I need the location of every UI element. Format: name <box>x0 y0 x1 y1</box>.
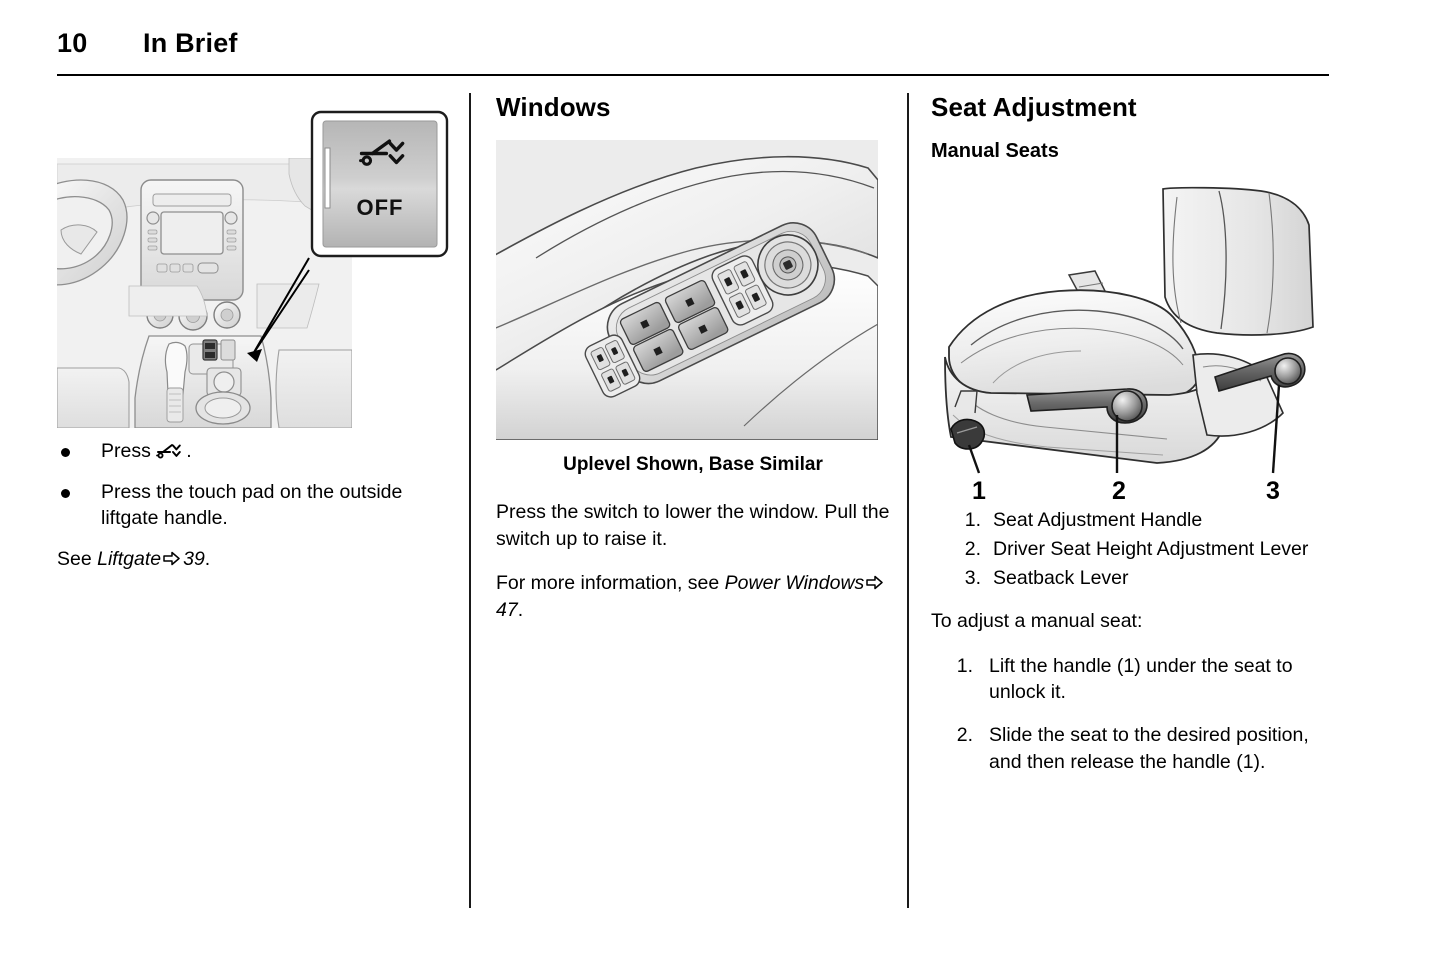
list-item: 1.Seat Adjustment Handle <box>931 507 1329 534</box>
legend-label: Driver Seat Height Adjustment Lever <box>993 538 1308 560</box>
column-divider-right <box>907 93 909 908</box>
seat-legend-list: 1.Seat Adjustment Handle 2.Driver Seat H… <box>931 507 1329 592</box>
header-divider-rule <box>57 74 1329 76</box>
see-period: . <box>518 599 523 621</box>
column-middle: Windows <box>496 93 890 642</box>
page-title: In Brief <box>143 28 238 59</box>
liftgate-icon <box>156 440 186 462</box>
section-title-seat-adjustment: Seat Adjustment <box>931 93 1329 122</box>
callout-number-1: 1 <box>972 477 986 505</box>
see-topic: Power Windows <box>725 572 865 594</box>
legend-label: Seat Adjustment Handle <box>993 509 1202 531</box>
list-item: Press the touch pad on the outside liftg… <box>57 479 451 532</box>
step-label: Lift the handle (1) under the seat to un… <box>989 655 1293 704</box>
see-lead: For more information, see <box>496 572 725 594</box>
bullet-text-after: . <box>186 440 191 462</box>
step-number: 2. <box>941 722 973 749</box>
see-page: 39 <box>183 548 205 570</box>
callout-number-3: 3 <box>1266 477 1280 505</box>
legend-label: Seatback Lever <box>993 567 1129 589</box>
seat-adjustment-handle <box>951 420 984 450</box>
door-window-switch-panel-illustration <box>496 140 878 440</box>
legend-number: 2. <box>947 536 981 563</box>
step-label: Slide the seat to the desired position, … <box>989 724 1309 773</box>
page-reference-arrow-icon <box>163 551 180 566</box>
list-item: 3.Seatback Lever <box>931 565 1329 592</box>
list-item: Press . <box>57 438 451 465</box>
seat-adjust-intro: To adjust a manual seat: <box>931 608 1329 635</box>
column-right: Seat Adjustment Manual Seats <box>931 93 1329 792</box>
figure-caption: Uplevel Shown, Base Similar <box>496 454 890 477</box>
list-item: 2.Driver Seat Height Adjustment Lever <box>931 536 1329 563</box>
page-reference-arrow-icon <box>866 575 883 590</box>
list-item: 2.Slide the seat to the desired position… <box>931 722 1329 776</box>
step-number: 1. <box>941 653 973 680</box>
liftgate-cross-reference: See Liftgate39. <box>57 546 451 573</box>
bullet-dot <box>61 448 70 457</box>
liftgate-bullet-list: Press . Press the touch pad on the outsi… <box>57 438 451 532</box>
see-period: . <box>205 548 210 570</box>
page-header: 10 In Brief <box>57 28 1329 78</box>
column-divider-left <box>469 93 471 908</box>
bullet-text: Press the touch pad on the outside liftg… <box>101 481 402 530</box>
legend-number: 1. <box>947 507 981 534</box>
callout-number-2: 2 <box>1112 477 1126 505</box>
bullet-text-before: Press <box>101 440 156 462</box>
seat-adjust-steps: 1.Lift the handle (1) under the seat to … <box>931 653 1329 777</box>
power-windows-cross-reference: For more information, see Power Windows4… <box>496 570 890 623</box>
column-left: Press . Press the touch pad on the outsi… <box>57 93 451 591</box>
windows-body-paragraph: Press the switch to lower the window. Pu… <box>496 499 890 552</box>
see-page: 47 <box>496 599 518 621</box>
legend-number: 3. <box>947 565 981 592</box>
page-number: 10 <box>57 28 87 59</box>
see-topic: Liftgate <box>97 548 161 570</box>
subsection-title-manual-seats: Manual Seats <box>931 140 1329 163</box>
see-lead: See <box>57 548 97 570</box>
list-item: 1.Lift the handle (1) under the seat to … <box>931 653 1329 707</box>
manual-seat-illustration: 1 2 3 <box>931 177 1329 507</box>
section-title-windows: Windows <box>496 93 890 122</box>
bullet-dot <box>61 489 70 498</box>
